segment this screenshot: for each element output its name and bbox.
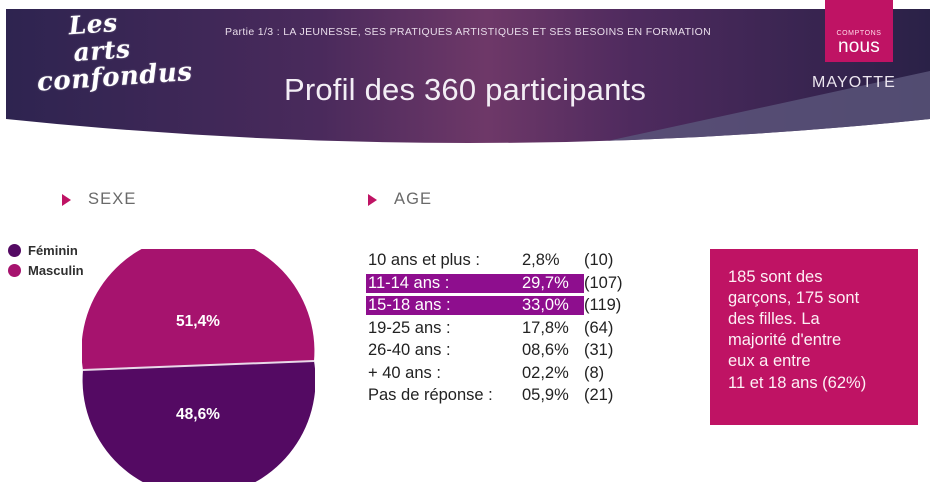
age-category: 26-40 ans : [368,341,522,360]
page-title: Profil des 360 participants [170,72,760,108]
age-count: (8) [584,364,604,383]
callout-line-3: des filles. La [728,309,918,330]
legend-swatch-icon [8,244,21,257]
comptons-nous-badge: COMPTONS nous [825,0,893,62]
age-distribution-table: 10 ans et plus : 2,8% (10) 11-14 ans : 2… [368,251,623,409]
legend-label-masculin: Masculin [28,263,84,278]
section-heading-sexe: SEXE [62,190,136,209]
pie-label-feminin: 48,6% [176,406,220,423]
age-count: (31) [584,341,613,360]
pie-chart-legend: Féminin Masculin [8,240,84,280]
age-category: 15-18 ans : [366,296,522,315]
triangle-bullet-icon [368,194,377,206]
table-row: Pas de réponse : 05,9% (21) [368,386,623,409]
age-percent: 05,9% [522,386,584,405]
table-row: 10 ans et plus : 2,8% (10) [368,251,623,274]
callout-line-4: majorité d'entre [728,330,918,351]
section-heading-age-label: AGE [394,190,432,209]
pie-label-masculin: 51,4% [176,313,220,330]
legend-swatch-icon [8,264,21,277]
section-heading-sexe-label: SEXE [88,190,136,209]
age-category: 19-25 ans : [368,319,522,338]
table-row: 11-14 ans : 29,7% (107) [368,274,623,297]
age-count: (21) [584,386,613,405]
table-row: + 40 ans : 02,2% (8) [368,364,623,387]
age-percent: 33,0% [522,296,584,315]
age-category: Pas de réponse : [368,386,522,405]
age-percent: 02,2% [522,364,584,383]
table-row: 19-25 ans : 17,8% (64) [368,319,623,342]
region-label: MAYOTTE [812,74,896,92]
legend-item-masculin: Masculin [8,260,84,280]
age-count: (10) [584,251,613,270]
table-row: 26-40 ans : 08,6% (31) [368,341,623,364]
table-row: 15-18 ans : 33,0% (119) [368,296,623,319]
age-category: + 40 ans : [368,364,522,383]
badge-line-2: nous [838,38,880,56]
age-count: (119) [584,296,621,315]
pie-slice-masculin [82,249,314,370]
age-percent: 17,8% [522,319,584,338]
age-percent: 2,8% [522,251,584,270]
pie-chart-svg: 51,4% 48,6% [82,249,315,482]
section-heading-age: AGE [368,190,432,209]
brand-logo: Les arts confondus [26,5,183,125]
legend-item-feminin: Féminin [8,240,84,260]
summary-callout-box: 185 sont des garçons, 175 sont des fille… [710,249,918,425]
sexe-pie-chart: 51,4% 48,6% [82,249,315,482]
header-subtitle: Partie 1/3 : LA JEUNESSE, SES PRATIQUES … [225,26,695,38]
legend-label-feminin: Féminin [28,243,78,258]
age-category: 10 ans et plus : [368,251,522,270]
age-count: (64) [584,319,613,338]
callout-line-6: 11 et 18 ans (62%) [728,373,918,394]
callout-line-5: eux a entre [728,351,918,372]
callout-line-1: 185 sont des [728,267,918,288]
age-count: (107) [584,274,623,293]
age-category: 11-14 ans : [366,274,522,293]
callout-line-2: garçons, 175 sont [728,288,918,309]
triangle-bullet-icon [62,194,71,206]
age-percent: 29,7% [522,274,584,293]
age-percent: 08,6% [522,341,584,360]
